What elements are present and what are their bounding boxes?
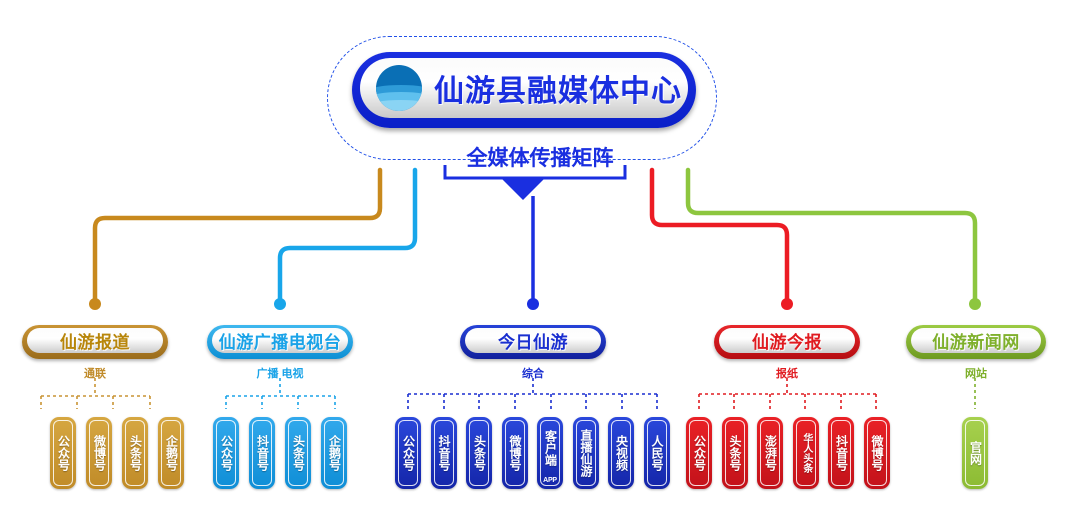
branch-subtitle: 广播 电视 — [207, 365, 353, 381]
chip-row-cyan: 公众号 抖音号 头条号 企鹅号 — [213, 417, 347, 489]
branch-header-blue[interactable]: 今日仙游 — [460, 325, 606, 359]
chip-item[interactable]: 公众号 — [213, 417, 239, 489]
chip-row-gold: 公众号 微博号 头条号 企鹅号 — [50, 417, 184, 489]
chip-row-green: 官网 — [962, 417, 988, 489]
branch-subtitle: 综合 — [460, 365, 606, 381]
chip-sublabel: APP — [537, 477, 563, 484]
chip-item[interactable]: 企鹅号 — [321, 417, 347, 489]
root-title: 仙游县融媒体中心 — [434, 66, 682, 110]
chip-item[interactable]: 头条号 — [285, 417, 311, 489]
chip-item[interactable]: 公众号 — [395, 417, 421, 489]
chip-label: 抖音号 — [835, 435, 848, 471]
branch-subtitle: 通联 — [22, 365, 168, 381]
chip-label: 微博号 — [870, 435, 883, 471]
chip-label: 头条号 — [473, 435, 486, 471]
root-node[interactable]: 仙游县融媒体中心 — [352, 52, 696, 128]
branch-cyan: 仙游广播电视台 广播 电视 公众号 抖音号 头条号 企鹅号 — [207, 325, 353, 359]
chip-item[interactable]: 人民号 — [644, 417, 670, 489]
branch-subtitle: 报纸 — [714, 365, 860, 381]
chip-row-red: 公众号 头条号 澎湃号 华人头条 抖音号 微博号 — [686, 417, 890, 489]
chip-item[interactable]: 头条号 — [466, 417, 492, 489]
matrix-label: 全媒体传播矩阵 — [0, 142, 1080, 172]
branch-title: 今日仙游 — [498, 328, 568, 353]
chip-label: 头条号 — [728, 435, 741, 471]
chip-item[interactable]: 微博号 — [86, 417, 112, 489]
chip-label: 公众号 — [220, 435, 233, 471]
chip-label: 官网 — [969, 441, 982, 465]
chip-item[interactable]: 公众号 — [50, 417, 76, 489]
chip-label: 企鹅号 — [165, 435, 178, 471]
wave-circle-logo — [376, 65, 422, 111]
chip-item[interactable]: 澎湃号 — [757, 417, 783, 489]
chip-label: 客户端 — [544, 430, 557, 466]
chip-item[interactable]: 直播仙游 — [573, 417, 599, 489]
chip-label: 微博号 — [93, 435, 106, 471]
chip-label: 直播仙游 — [579, 429, 592, 477]
diagram-canvas: 仙游县融媒体中心 全媒体传播矩阵 仙游报道 通联 公众号 微博号 头条号 企鹅号… — [0, 0, 1080, 525]
chip-row-blue: 公众号 抖音号 头条号 微博号 客户端 APP 直播仙游 央视频 人民号 — [395, 417, 670, 489]
chip-item[interactable]: 微博号 — [502, 417, 528, 489]
chip-label: 澎湃号 — [764, 435, 777, 471]
chip-label: 头条号 — [129, 435, 142, 471]
branch-title: 仙游报道 — [60, 328, 130, 353]
chip-item[interactable]: 抖音号 — [431, 417, 457, 489]
chip-item[interactable]: 官网 — [962, 417, 988, 489]
chip-item[interactable]: 头条号 — [722, 417, 748, 489]
chip-item[interactable]: 抖音号 — [828, 417, 854, 489]
chip-item[interactable]: 头条号 — [122, 417, 148, 489]
branch-title: 仙游广播电视台 — [219, 328, 342, 353]
chip-label: 华人头条 — [800, 433, 811, 473]
chip-item[interactable]: 华人头条 — [793, 417, 819, 489]
chip-label: 人民号 — [650, 435, 663, 471]
branch-title: 仙游新闻网 — [932, 328, 1020, 353]
branch-subtitle: 网站 — [906, 365, 1046, 381]
chip-item[interactable]: 企鹅号 — [158, 417, 184, 489]
chip-item[interactable]: 客户端 APP — [537, 417, 563, 489]
branch-header-cyan[interactable]: 仙游广播电视台 — [207, 325, 353, 359]
branch-title: 仙游今报 — [752, 328, 822, 353]
chip-label: 公众号 — [402, 435, 415, 471]
chip-label: 公众号 — [693, 435, 706, 471]
chip-label: 头条号 — [292, 435, 305, 471]
branch-header-gold[interactable]: 仙游报道 — [22, 325, 168, 359]
branch-red: 仙游今报 报纸 公众号 头条号 澎湃号 华人头条 抖音号 微博号 — [714, 325, 860, 359]
chip-label: 抖音号 — [437, 435, 450, 471]
branch-blue: 今日仙游 综合 公众号 抖音号 头条号 微博号 客户端 APP 直播仙游 央视频… — [460, 325, 606, 359]
chip-label: 公众号 — [57, 435, 70, 471]
chip-label: 抖音号 — [256, 435, 269, 471]
chip-label: 央视频 — [615, 435, 628, 471]
branch-header-green[interactable]: 仙游新闻网 — [906, 325, 1046, 359]
chip-label: 微博号 — [508, 435, 521, 471]
chip-item[interactable]: 央视频 — [608, 417, 634, 489]
chip-item[interactable]: 抖音号 — [249, 417, 275, 489]
chip-label: 企鹅号 — [328, 435, 341, 471]
branch-gold: 仙游报道 通联 公众号 微博号 头条号 企鹅号 — [22, 325, 168, 359]
branch-header-red[interactable]: 仙游今报 — [714, 325, 860, 359]
branch-green: 仙游新闻网 网站 官网 — [906, 325, 1046, 359]
chip-item[interactable]: 微博号 — [864, 417, 890, 489]
chip-item[interactable]: 公众号 — [686, 417, 712, 489]
